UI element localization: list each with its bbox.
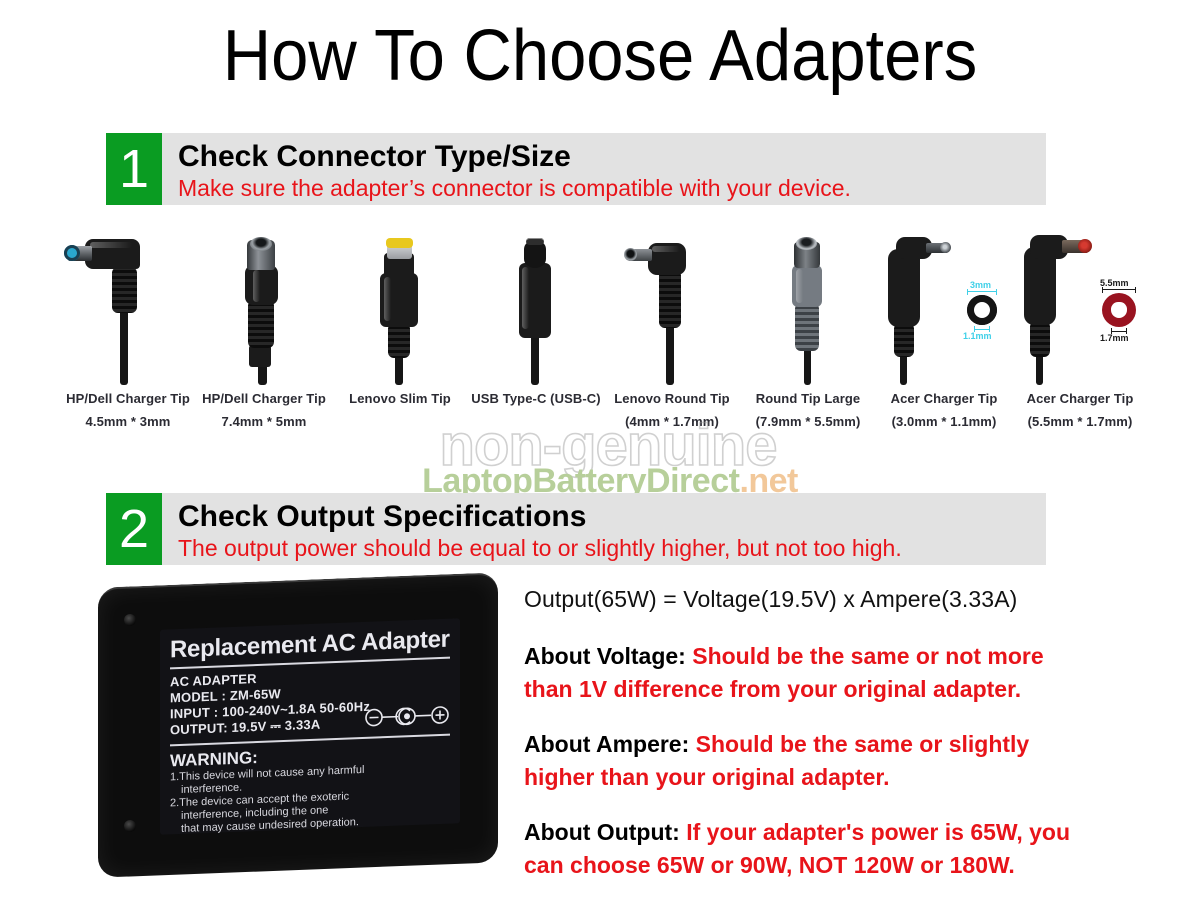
acer-large-callout: 5.5mm 1.7mm: [1092, 279, 1148, 343]
about-voltage-lead: About Voltage:: [524, 643, 686, 669]
connector-item: 3mm 1.1mm Acer Charger Tip (3.0mm * 1.1m…: [876, 225, 1012, 440]
step-1-header: 1 Check Connector Type/Size Make sure th…: [106, 133, 1046, 205]
lenovo-round-tip-icon: [604, 225, 740, 385]
usb-type-c-icon: [468, 225, 604, 385]
callout-inner-label: 1.1mm: [963, 331, 992, 341]
round-tip-large-icon: [740, 225, 876, 385]
callout-outer-label: 3mm: [970, 280, 991, 290]
connector-size: (7.9mm * 5.5mm): [756, 412, 861, 431]
output-spec-text: Output(65W) = Voltage(19.5V) x Ampere(3.…: [524, 584, 1084, 904]
polarity-symbol-icon: [364, 705, 450, 733]
connector-name: HP/Dell Charger Tip: [202, 389, 326, 408]
connector-name: Acer Charger Tip: [891, 389, 998, 408]
hp-dell-blue-tip-icon: [60, 225, 196, 385]
connector-name: Lenovo Round Tip: [614, 389, 729, 408]
connector-gallery: HP/Dell Charger Tip 4.5mm * 3mm HP/Dell …: [60, 225, 1150, 440]
step-1-subtitle: Make sure the adapter’s connector is com…: [178, 174, 851, 202]
connector-size: 7.4mm * 5mm: [222, 412, 307, 431]
step-2-header: 2 Check Output Specifications The output…: [106, 493, 1046, 565]
adapter-label: Replacement AC Adapter AC ADAPTER MODEL …: [160, 618, 460, 835]
page-title: How To Choose Adapters: [42, 14, 1158, 98]
step-1-text: Check Connector Type/Size Make sure the …: [162, 133, 851, 205]
step-2-number: 2: [106, 493, 162, 565]
connector-name: HP/Dell Charger Tip: [66, 389, 190, 408]
connector-name: USB Type-C (USB-C): [471, 389, 600, 408]
connector-name: Lenovo Slim Tip: [349, 389, 451, 408]
connector-item: Lenovo Round Tip (4mm * 1.7mm): [604, 225, 740, 440]
callout-inner-label: 1.7mm: [1100, 333, 1129, 343]
connector-item: 5.5mm 1.7mm Acer Charger Tip (5.5mm * 1.…: [1012, 225, 1148, 440]
screw-icon: [124, 820, 136, 832]
about-output: About Output: If your adapter's power is…: [524, 816, 1084, 882]
connector-item: Lenovo Slim Tip: [332, 225, 468, 440]
step-1-title: Check Connector Type/Size: [178, 140, 851, 174]
callout-outer-label: 5.5mm: [1100, 278, 1129, 288]
step-2-text: Check Output Specifications The output p…: [162, 493, 902, 565]
about-voltage: About Voltage: Should be the same or not…: [524, 640, 1084, 706]
ac-adapter-photo: Replacement AC Adapter AC ADAPTER MODEL …: [98, 580, 498, 870]
infographic-page: How To Choose Adapters 1 Check Connector…: [0, 0, 1200, 900]
step-2-subtitle: The output power should be equal to or s…: [178, 534, 902, 562]
connector-size: (4mm * 1.7mm): [625, 412, 719, 431]
hp-dell-large-tip-icon: [196, 225, 332, 385]
step-1-number: 1: [106, 133, 162, 205]
screw-icon: [124, 614, 136, 626]
output-equation: Output(65W) = Voltage(19.5V) x Ampere(3.…: [524, 584, 1084, 614]
connector-item: USB Type-C (USB-C): [468, 225, 604, 440]
about-ampere-lead: About Ampere:: [524, 731, 689, 757]
adapter-warning-list: 1.This device will not cause any harmful…: [170, 761, 450, 837]
step-2-title: Check Output Specifications: [178, 500, 902, 534]
acer-tip-55mm-icon: 5.5mm 1.7mm: [1012, 225, 1148, 385]
connector-item: HP/Dell Charger Tip 7.4mm * 5mm: [196, 225, 332, 440]
connector-size: (3.0mm * 1.1mm): [892, 412, 997, 431]
connector-name: Round Tip Large: [756, 389, 861, 408]
about-ampere: About Ampere: Should be the same or slig…: [524, 728, 1084, 794]
acer-tip-3mm-icon: 3mm 1.1mm: [876, 225, 1012, 385]
connector-name: Acer Charger Tip: [1027, 389, 1134, 408]
connector-item: HP/Dell Charger Tip 4.5mm * 3mm: [60, 225, 196, 440]
acer-small-callout: 3mm 1.1mm: [958, 281, 1008, 341]
about-output-lead: About Output:: [524, 819, 680, 845]
connector-item: Round Tip Large (7.9mm * 5.5mm): [740, 225, 876, 440]
connector-size: (5.5mm * 1.7mm): [1028, 412, 1133, 431]
connector-size: 4.5mm * 3mm: [86, 412, 171, 431]
lenovo-slim-yellow-tip-icon: [332, 225, 468, 385]
